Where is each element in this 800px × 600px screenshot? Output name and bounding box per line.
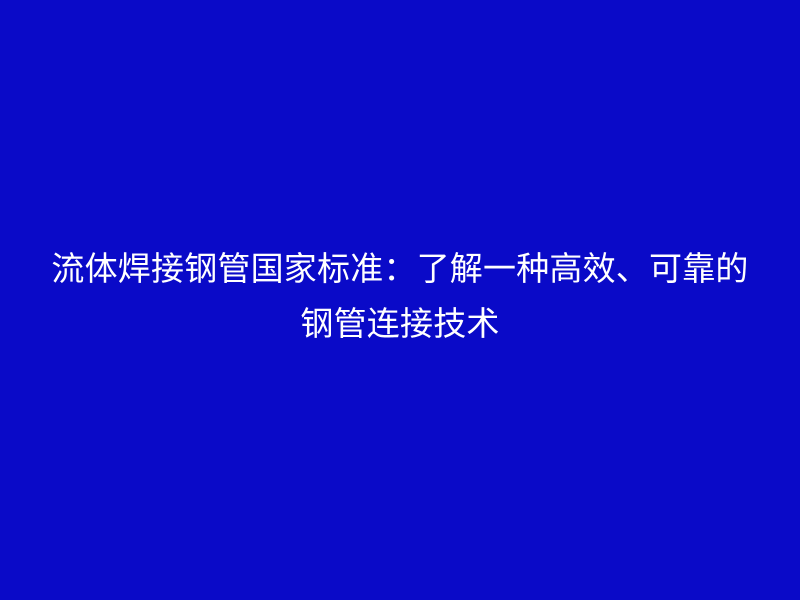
- title-card: 流体焊接钢管国家标准：了解一种高效、可靠的钢管连接技术: [0, 0, 800, 600]
- page-title: 流体焊接钢管国家标准：了解一种高效、可靠的钢管连接技术: [50, 241, 750, 351]
- title-block: 流体焊接钢管国家标准：了解一种高效、可靠的钢管连接技术: [50, 0, 750, 600]
